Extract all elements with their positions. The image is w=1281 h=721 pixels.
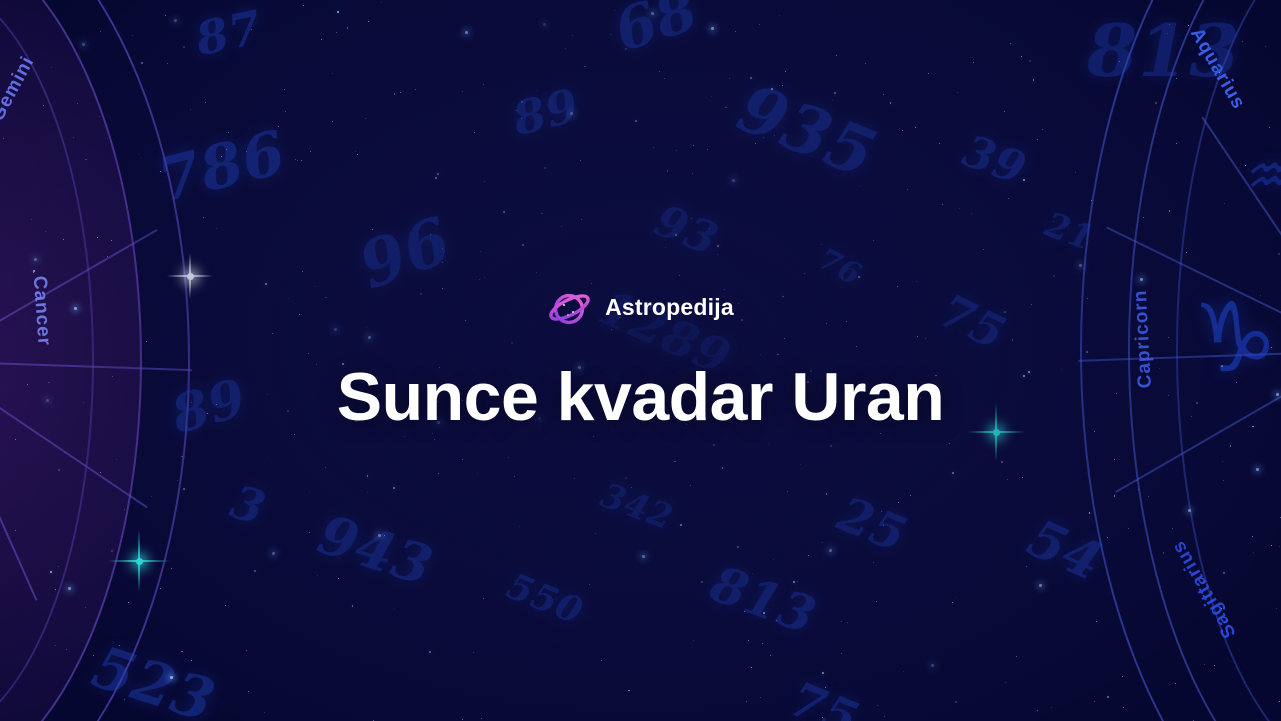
brand-lockup[interactable]: Astropedija [547,288,734,328]
planet-ring-icon [547,288,593,328]
hero-content: Astropedija Sunce kvadar Uran [0,0,1281,721]
hero-banner: Gemini Cancer Aquarius Capricorn Sagitta… [0,0,1281,721]
page-title: Sunce kvadar Uran [337,362,945,433]
brand-name: Astropedija [605,294,734,321]
